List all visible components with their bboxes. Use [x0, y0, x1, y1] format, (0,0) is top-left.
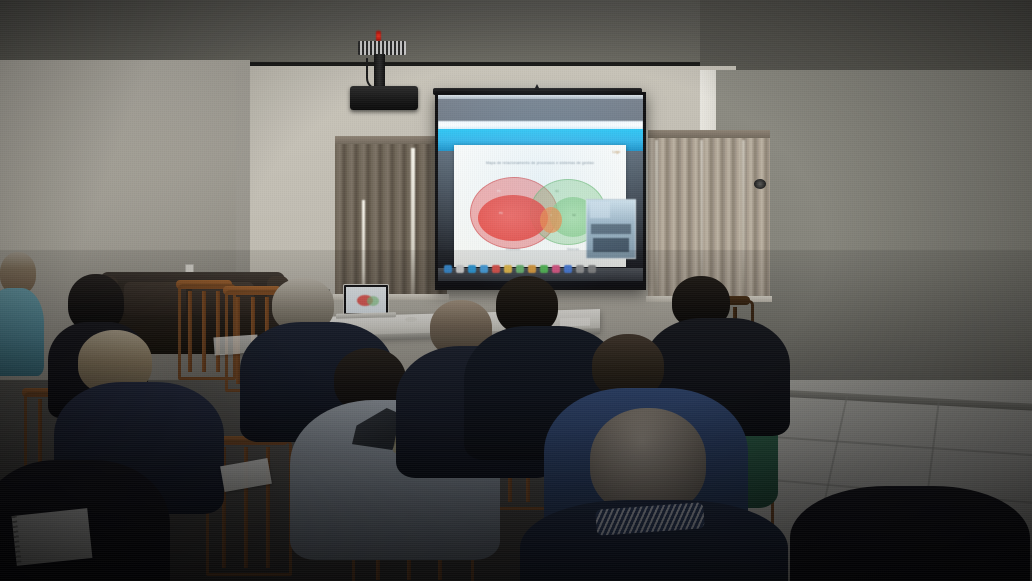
- notes-icon[interactable]: [504, 265, 512, 273]
- safari-icon[interactable]: [468, 265, 476, 273]
- attendee-man-with-glasses: [0, 252, 50, 372]
- daylight-gap: [655, 140, 658, 298]
- screen-surface: Logo Mapa de relacionamento de processos…: [438, 95, 643, 287]
- venn-label-red-inner: P2: [492, 211, 510, 215]
- ceiling-right-bay: [700, 0, 1032, 72]
- venn-label-green-inner: S2: [566, 213, 582, 217]
- settings-icon[interactable]: [576, 265, 584, 273]
- projection-screen[interactable]: Logo Mapa de relacionamento de processos…: [435, 92, 646, 290]
- attendee-far-right-edge: [790, 486, 990, 581]
- photos-icon[interactable]: [528, 265, 536, 273]
- daylight-gap: [411, 148, 415, 298]
- desktop-menubar: [438, 95, 643, 99]
- chair-slat: [216, 291, 220, 372]
- appstore-icon[interactable]: [564, 265, 572, 273]
- projector-body[interactable]: [350, 86, 418, 110]
- venn-region-red-inner: [478, 195, 548, 241]
- blinds-left-window[interactable]: [335, 136, 447, 298]
- spiral-notebook: [12, 508, 93, 566]
- trash-icon[interactable]: [588, 265, 596, 273]
- torso: [790, 486, 1030, 581]
- messages-icon[interactable]: [540, 265, 548, 273]
- venn-region-overlap: [540, 207, 562, 233]
- attendee-foreground-striped-collar: [548, 408, 758, 581]
- blinds-right-window[interactable]: [648, 130, 770, 300]
- calendar-icon[interactable]: [492, 265, 500, 273]
- conference-room-photo: Logo Mapa de relacionamento de processos…: [0, 0, 1032, 581]
- mail-icon[interactable]: [480, 265, 488, 273]
- daylight-gap: [700, 140, 703, 298]
- ceiling-vent-plate: [358, 41, 406, 55]
- photo-inset: [586, 199, 636, 259]
- venn-label-overlap: I: [544, 213, 558, 217]
- venn-label-red-outer: P1: [490, 189, 508, 193]
- venn-footer-left: Processos: [490, 247, 536, 251]
- maps-icon[interactable]: [516, 265, 524, 273]
- torso: [0, 288, 44, 376]
- music-icon[interactable]: [552, 265, 560, 273]
- venn-label-green-outer: S1: [549, 189, 565, 193]
- projector-lens-icon: [754, 179, 766, 189]
- slide-title: Mapa de relacionamento de processos e si…: [462, 161, 618, 165]
- daylight-gap: [742, 140, 745, 298]
- launchpad-icon[interactable]: [456, 265, 464, 273]
- finder-icon[interactable]: [444, 265, 452, 273]
- slide-brand-logo: Logo: [612, 150, 620, 154]
- head: [590, 408, 706, 514]
- blind-slats: [335, 144, 447, 298]
